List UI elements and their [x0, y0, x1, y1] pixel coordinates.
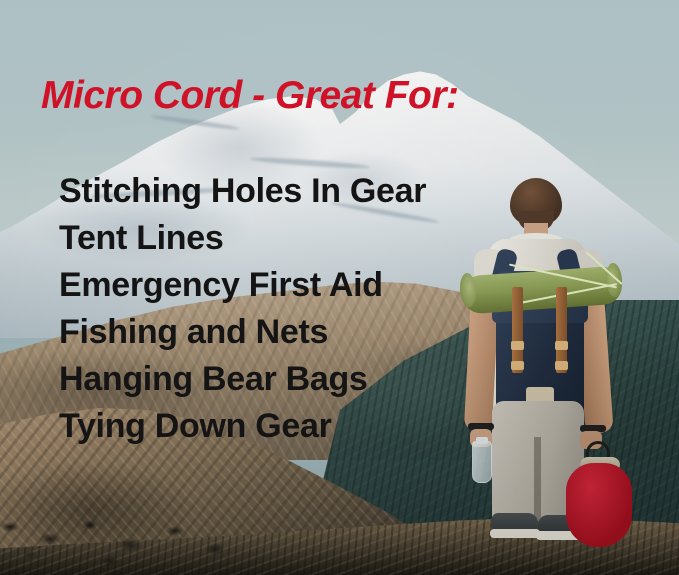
benefit-item-tying-down-gear: Tying Down Gear: [59, 403, 426, 450]
benefit-item-hanging-bear-bags: Hanging Bear Bags: [59, 356, 426, 403]
benefit-item-fishing-and-nets: Fishing and Nets: [59, 309, 426, 356]
benefit-item-tent-lines: Tent Lines: [59, 215, 426, 262]
poster-headline: Micro Cord - Great For:: [41, 74, 459, 118]
text-overlay: Micro Cord - Great For: Stitching Holes …: [0, 0, 679, 575]
benefit-item-emergency-first-aid: Emergency First Aid: [59, 262, 426, 309]
benefit-item-stitching-holes-in-gear: Stitching Holes In Gear: [59, 168, 426, 215]
benefit-list: Stitching Holes In Gear Tent Lines Emerg…: [59, 168, 426, 450]
product-feature-poster: Micro Cord - Great For: Stitching Holes …: [0, 0, 679, 575]
